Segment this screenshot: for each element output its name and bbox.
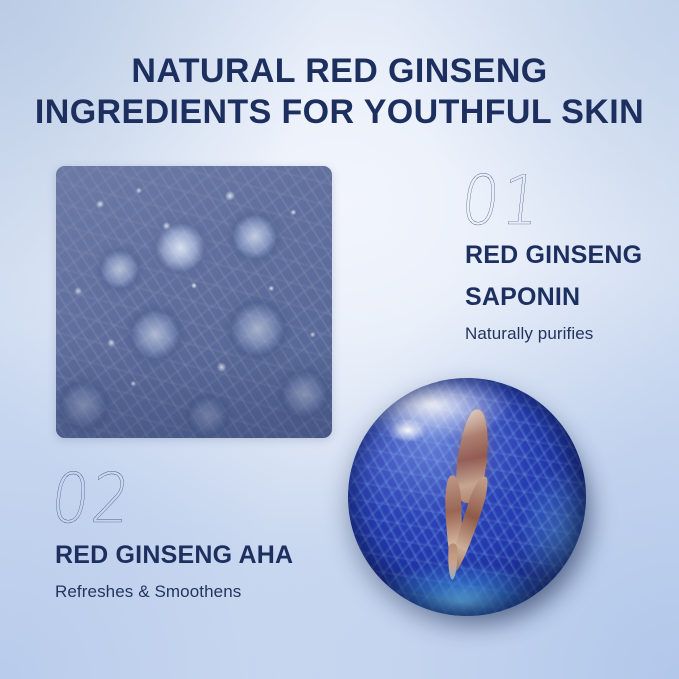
page-title-line-2: INGREDIENTS FOR YOUTHFUL SKIN bbox=[0, 92, 679, 133]
ingredient-item-02: 02 RED GINSENG AHA Refreshes & Smoothens bbox=[55, 466, 355, 602]
page-title-line-1: NATURAL RED GINSENG bbox=[0, 51, 679, 92]
ingredient-infographic-poster: NATURAL RED GINSENG INGREDIENTS FOR YOUT… bbox=[0, 0, 679, 679]
ingredient-title-01-line-1: RED GINSENG bbox=[465, 241, 675, 270]
ingredient-number-02: 02 bbox=[48, 466, 355, 533]
ingredient-item-01: 01 RED GINSENG SAPONIN Naturally purifie… bbox=[465, 168, 675, 344]
ingredient-title-02-line-1: RED GINSENG AHA bbox=[55, 541, 355, 570]
sphere-rim-shading bbox=[348, 378, 586, 616]
ingredient-benefit-02: Refreshes & Smoothens bbox=[55, 582, 355, 602]
ingredient-title-01-line-2: SAPONIN bbox=[465, 283, 675, 312]
ingredient-number-01: 01 bbox=[458, 168, 675, 235]
page-title: NATURAL RED GINSENG INGREDIENTS FOR YOUT… bbox=[0, 51, 679, 133]
water-droplets-photo bbox=[56, 166, 332, 438]
ingredient-benefit-01: Naturally purifies bbox=[465, 324, 675, 344]
ginseng-sphere-image bbox=[344, 372, 600, 630]
photo-shading-overlay bbox=[56, 166, 332, 438]
blue-water-sphere bbox=[348, 378, 586, 616]
